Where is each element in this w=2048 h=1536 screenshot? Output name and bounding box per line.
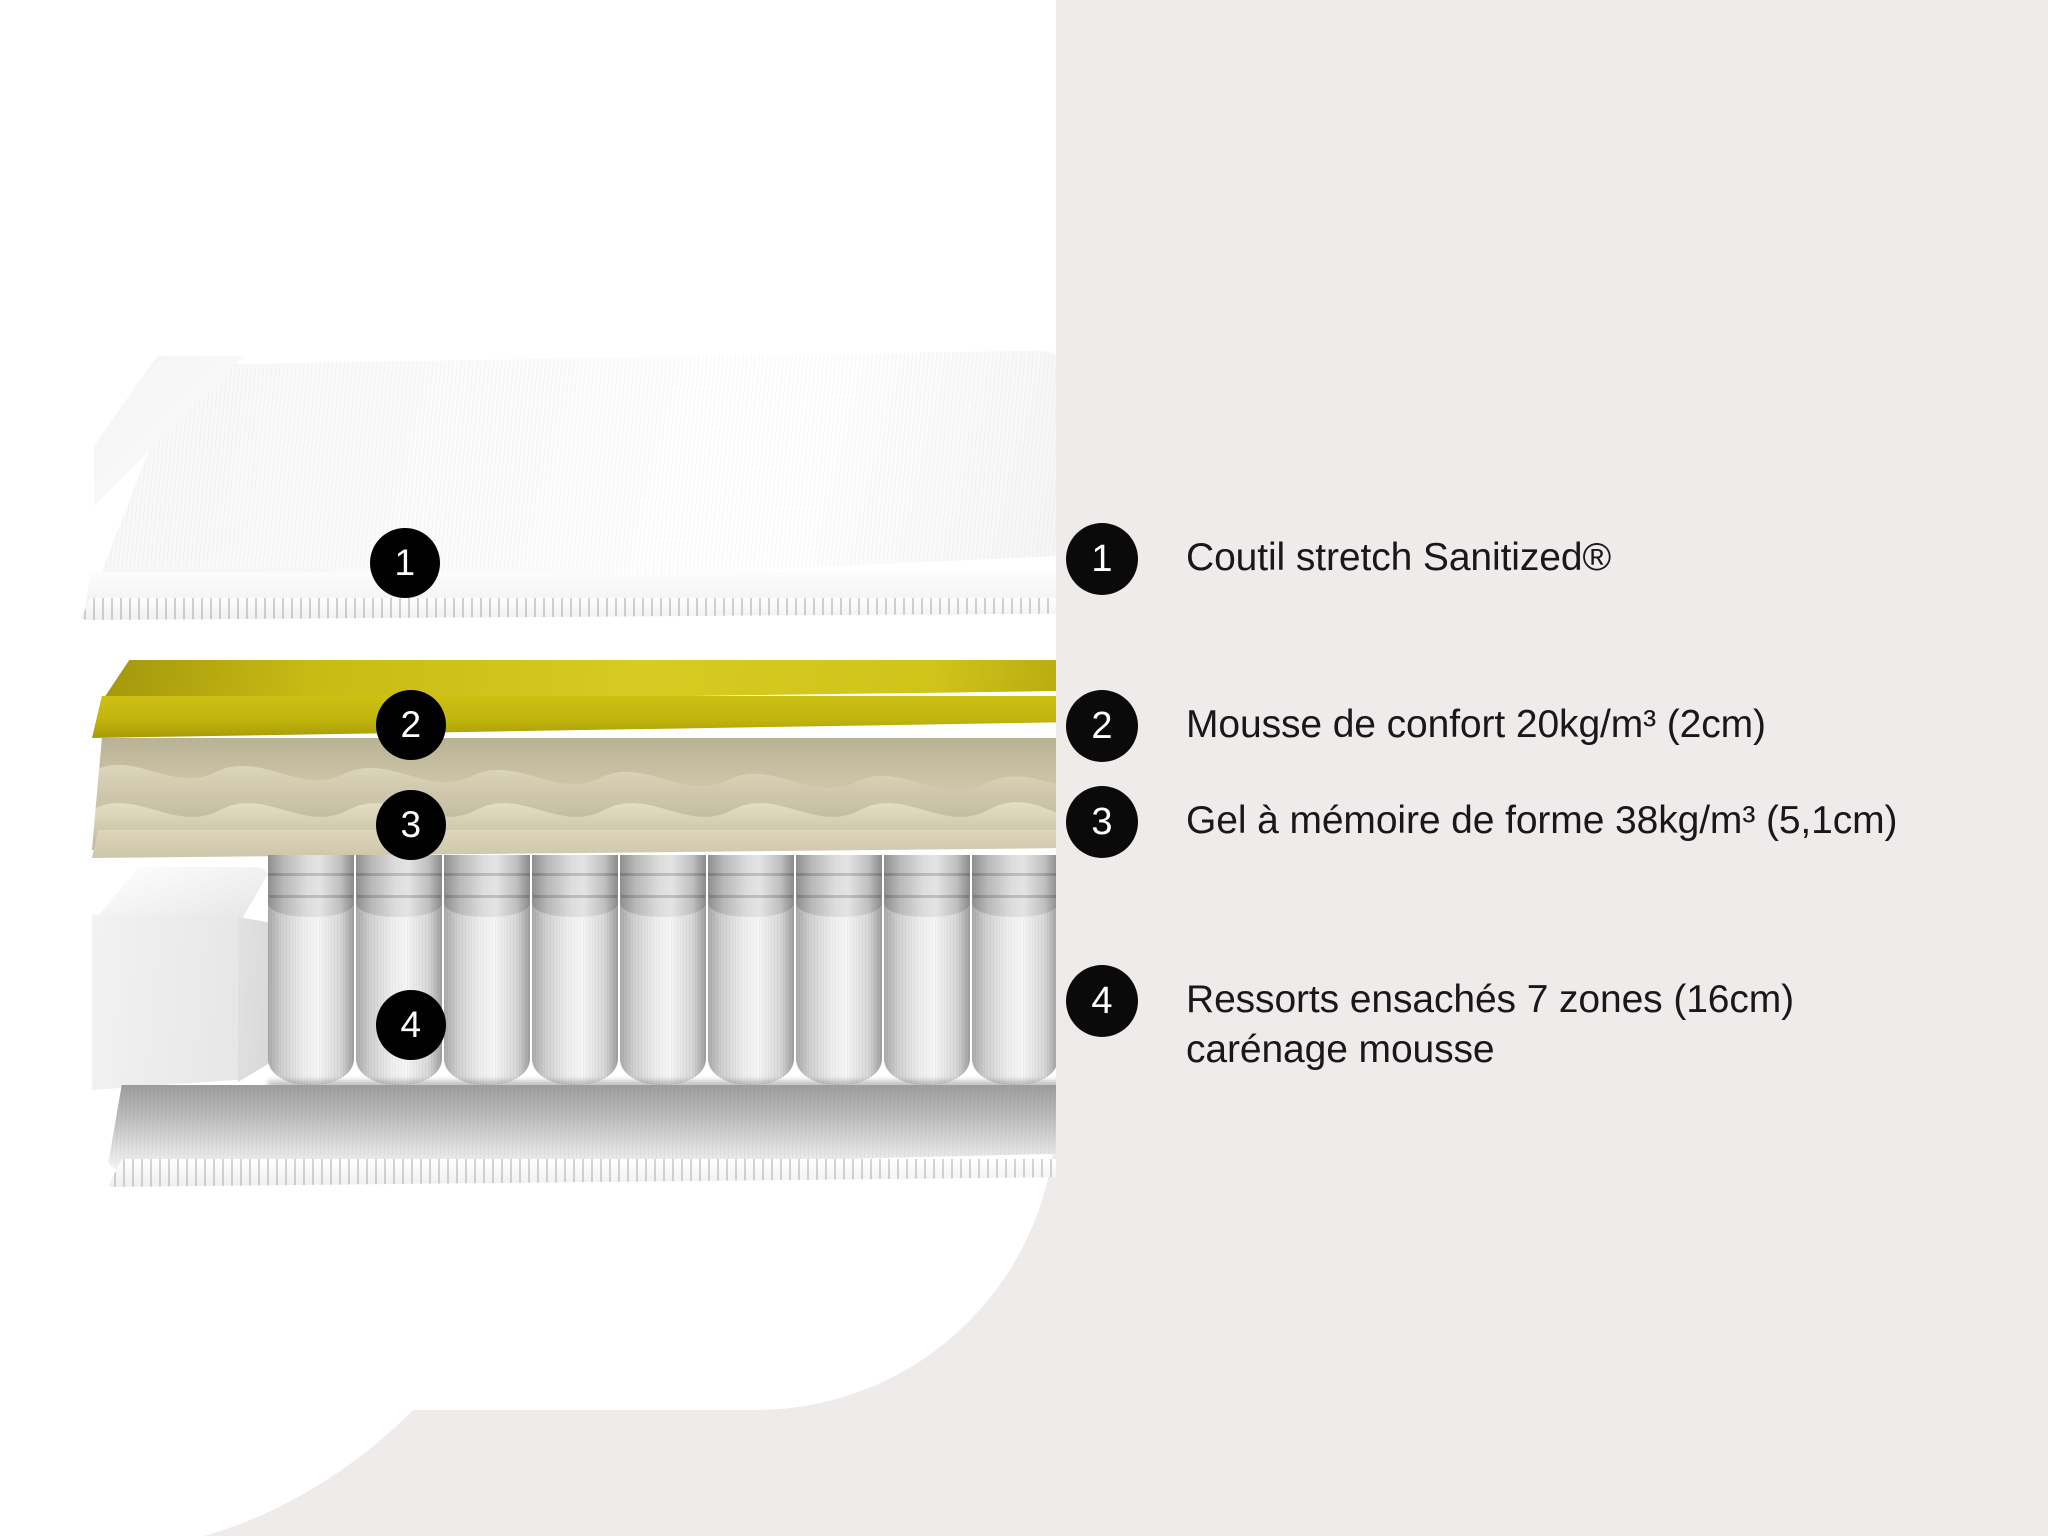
legend-item-4[interactable]: 4 Ressorts ensachés 7 zones (16cm) carén… bbox=[1066, 965, 1794, 1075]
pocket-spring bbox=[972, 855, 1056, 1085]
pocket-spring bbox=[620, 855, 706, 1085]
legend-badge-2: 2 bbox=[1066, 690, 1138, 762]
pocket-spring bbox=[268, 855, 354, 1085]
marker-badge-3[interactable]: 3 bbox=[376, 790, 446, 860]
mattress-layer-pocket-springs bbox=[92, 855, 1056, 1115]
mattress-cross-section-image: 1 2 3 4 bbox=[0, 0, 1056, 1536]
mattress-layer-cover bbox=[60, 350, 1056, 650]
legend-badge-1: 1 bbox=[1066, 523, 1138, 595]
legend-list: 1 Coutil stretch Sanitized® 2 Mousse de … bbox=[1066, 0, 2046, 1536]
legend-item-1[interactable]: 1 Coutil stretch Sanitized® bbox=[1066, 523, 1611, 595]
memory-gel-base-edge bbox=[92, 830, 1056, 858]
legend-label-1: Coutil stretch Sanitized® bbox=[1186, 523, 1611, 583]
marker-badge-1[interactable]: 1 bbox=[370, 528, 440, 598]
legend-item-2[interactable]: 2 Mousse de confort 20kg/m³ (2cm) bbox=[1066, 690, 1766, 762]
mattress-base-fabric bbox=[86, 1085, 1056, 1225]
mattress-layer-memory-gel bbox=[92, 738, 1056, 868]
comfort-foam-front-face bbox=[92, 696, 1056, 738]
marker-badge-4[interactable]: 4 bbox=[376, 990, 446, 1060]
edge-block-front-face bbox=[92, 915, 242, 1090]
cover-piping-trim bbox=[66, 598, 1056, 620]
pocket-spring bbox=[532, 855, 618, 1085]
legend-label-2: Mousse de confort 20kg/m³ (2cm) bbox=[1186, 690, 1766, 750]
foam-edge-support-block bbox=[92, 867, 272, 1092]
pocket-spring-row bbox=[268, 855, 1056, 1099]
legend-label-3: Gel à mémoire de forme 38kg/m³ (5,1cm) bbox=[1186, 786, 1897, 846]
legend-label-4: Ressorts ensachés 7 zones (16cm) carénag… bbox=[1186, 965, 1794, 1075]
legend-badge-4: 4 bbox=[1066, 965, 1138, 1037]
pocket-spring bbox=[708, 855, 794, 1085]
pocket-spring bbox=[796, 855, 882, 1085]
base-piping-trim bbox=[96, 1159, 1056, 1187]
marker-badge-2[interactable]: 2 bbox=[376, 690, 446, 760]
legend-item-3[interactable]: 3 Gel à mémoire de forme 38kg/m³ (5,1cm) bbox=[1066, 786, 1897, 858]
illustration-stage: 1 2 3 4 1 Coutil stretch Sanitized® 2 Mo… bbox=[0, 0, 2048, 1536]
pocket-spring bbox=[884, 855, 970, 1085]
edge-block-top-face bbox=[92, 867, 272, 923]
pocket-spring bbox=[444, 855, 530, 1085]
legend-badge-3: 3 bbox=[1066, 786, 1138, 858]
